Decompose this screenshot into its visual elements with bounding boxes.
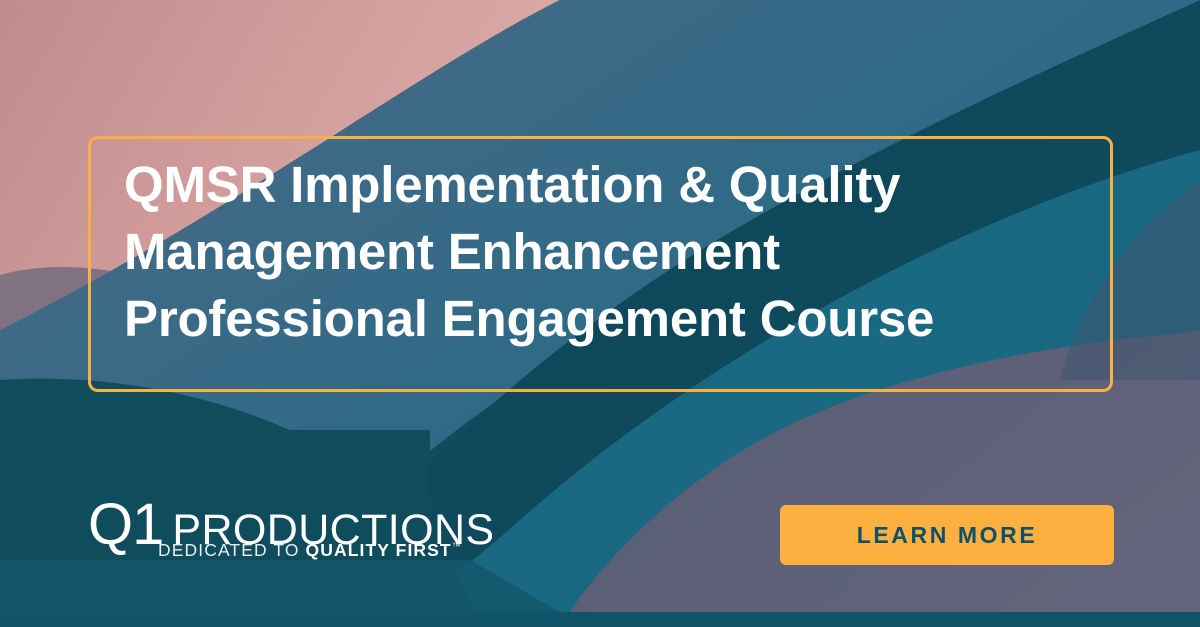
tagline-emphasis: QUALITY FIRST xyxy=(306,540,452,560)
learn-more-button[interactable]: LEARN MORE xyxy=(780,505,1114,565)
tagline-prefix: DEDICATED TO xyxy=(158,540,306,560)
headline-line-2: Management Enhancement xyxy=(124,218,1090,285)
logo-tagline: DEDICATED TO QUALITY FIRST™ xyxy=(158,540,461,561)
trademark-symbol: ™ xyxy=(452,541,461,551)
headline-line-1: QMSR Implementation & Quality xyxy=(124,151,1090,218)
logo-mark-q1: Q1 xyxy=(88,496,163,554)
learn-more-label: LEARN MORE xyxy=(857,522,1038,549)
page-title: QMSR Implementation & Quality Management… xyxy=(124,151,1090,352)
brand-logo: Q1 PRODUCTIONS DEDICATED TO QUALITY FIRS… xyxy=(88,496,468,562)
promo-banner: QMSR Implementation & Quality Management… xyxy=(0,0,1200,627)
headline-frame: QMSR Implementation & Quality Management… xyxy=(88,136,1113,392)
headline-line-3: Professional Engagement Course xyxy=(124,285,1090,352)
